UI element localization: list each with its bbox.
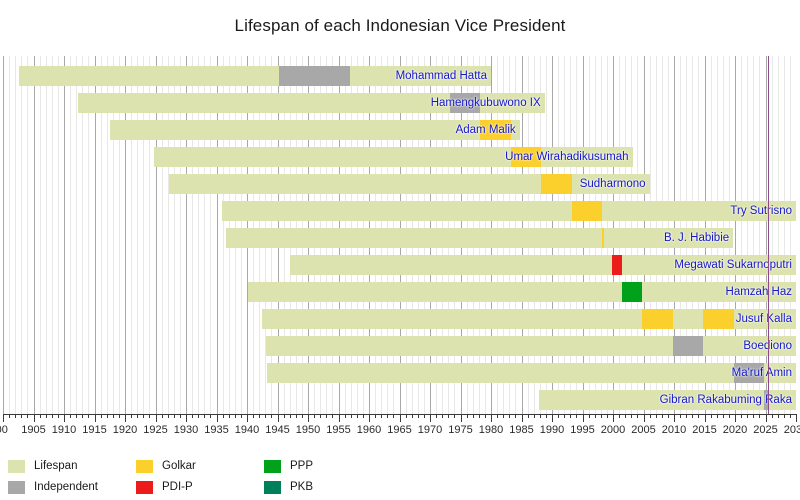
today-marker-line [3, 56, 796, 414]
axis-tick-label: 1990 [540, 424, 564, 436]
tick-minor [314, 414, 315, 418]
tick-minor [656, 414, 657, 418]
tick-minor [76, 414, 77, 418]
legend-label: PDI-P [162, 479, 193, 495]
tick-major [217, 414, 218, 422]
tick-minor [192, 414, 193, 418]
tick-major [735, 414, 736, 422]
tick-minor [332, 414, 333, 418]
tick-major [583, 414, 584, 422]
axis-tick-label: 2010 [662, 424, 686, 436]
chart-title: Lifespan of each Indonesian Vice Preside… [0, 16, 800, 36]
tick-minor [345, 414, 346, 418]
tick-minor [509, 414, 510, 418]
tick-major [491, 414, 492, 422]
tick-minor [320, 414, 321, 418]
tick-major [278, 414, 279, 422]
tick-minor [241, 414, 242, 418]
tick-minor [729, 414, 730, 418]
axis-tick-label: 2030 [784, 424, 800, 436]
tick-major [430, 414, 431, 422]
axis-tick-label: 2015 [692, 424, 716, 436]
tick-minor [607, 414, 608, 418]
tick-minor [723, 414, 724, 418]
tick-minor [424, 414, 425, 418]
tick-minor [58, 414, 59, 418]
chart-legend: LifespanIndependentGolkarPDI-PPPPPKB [0, 458, 800, 500]
axis-tick-label: 1975 [448, 424, 472, 436]
tick-major [644, 414, 645, 422]
tick-minor [387, 414, 388, 418]
tick-minor [662, 414, 663, 418]
tick-minor [271, 414, 272, 418]
axis-tick-label: 1915 [82, 424, 106, 436]
tick-minor [284, 414, 285, 418]
tick-minor [265, 414, 266, 418]
axis-tick-label: 1910 [52, 424, 76, 436]
legend-label: Independent [34, 479, 98, 495]
tick-minor [692, 414, 693, 418]
tick-minor [119, 414, 120, 418]
today-line [768, 56, 769, 414]
tick-minor [363, 414, 364, 418]
legend-label: PPP [290, 458, 313, 474]
tick-minor [46, 414, 47, 418]
tick-minor [70, 414, 71, 418]
tick-minor [564, 414, 565, 418]
legend-label: Golkar [162, 458, 196, 474]
tick-minor [436, 414, 437, 418]
tick-minor [619, 414, 620, 418]
tick-major [95, 414, 96, 422]
tick-major [339, 414, 340, 422]
tick-minor [772, 414, 773, 418]
tick-minor [650, 414, 651, 418]
tick-major [613, 414, 614, 422]
tick-minor [21, 414, 22, 418]
tick-major [705, 414, 706, 422]
tick-major [156, 414, 157, 422]
legend-label: Lifespan [34, 458, 77, 474]
tick-minor [528, 414, 529, 418]
tick-major [186, 414, 187, 422]
tick-minor [101, 414, 102, 418]
tick-minor [473, 414, 474, 418]
tick-minor [540, 414, 541, 418]
tick-minor [229, 414, 230, 418]
tick-minor [778, 414, 779, 418]
tick-minor [485, 414, 486, 418]
tick-minor [357, 414, 358, 418]
tick-minor [680, 414, 681, 418]
tick-major [64, 414, 65, 422]
tick-minor [558, 414, 559, 418]
tick-minor [711, 414, 712, 418]
tick-major [522, 414, 523, 422]
axis-tick-label: 1935 [204, 424, 228, 436]
tick-minor [747, 414, 748, 418]
axis-tick-label: 00 [0, 424, 8, 436]
tick-minor [753, 414, 754, 418]
tick-major [34, 414, 35, 422]
tick-minor [296, 414, 297, 418]
axis-tick-label: 1955 [326, 424, 350, 436]
tick-minor [174, 414, 175, 418]
x-axis-labels: 0019051910191519201925193019351940194519… [0, 424, 800, 442]
axis-tick-label: 1945 [265, 424, 289, 436]
tick-minor [759, 414, 760, 418]
tick-major [247, 414, 248, 422]
tick-minor [570, 414, 571, 418]
tick-minor [223, 414, 224, 418]
legend-swatch-independent [8, 481, 25, 494]
tick-minor [515, 414, 516, 418]
tick-minor [497, 414, 498, 418]
tick-major [308, 414, 309, 422]
legend-swatch-pkb [264, 481, 281, 494]
tick-minor [82, 414, 83, 418]
tick-minor [107, 414, 108, 418]
chart-page: Lifespan of each Indonesian Vice Preside… [0, 0, 800, 500]
tick-minor [113, 414, 114, 418]
plot-area: Mohammad HattaHamengkubuwono IXAdam Mali… [3, 56, 796, 414]
tick-minor [503, 414, 504, 418]
axis-tick-label: 1960 [357, 424, 381, 436]
axis-tick-label: 1970 [418, 424, 442, 436]
axis-tick-label: 1995 [570, 424, 594, 436]
tick-minor [88, 414, 89, 418]
tick-minor [698, 414, 699, 418]
tick-minor [180, 414, 181, 418]
tick-minor [448, 414, 449, 418]
tick-minor [784, 414, 785, 418]
tick-minor [131, 414, 132, 418]
axis-tick-label: 1980 [479, 424, 503, 436]
tick-minor [717, 414, 718, 418]
axis-tick-label: 1925 [143, 424, 167, 436]
tick-minor [27, 414, 28, 418]
tick-minor [576, 414, 577, 418]
tick-minor [326, 414, 327, 418]
axis-tick-label: 1950 [296, 424, 320, 436]
tick-minor [259, 414, 260, 418]
tick-minor [668, 414, 669, 418]
tick-minor [149, 414, 150, 418]
tick-minor [204, 414, 205, 418]
axis-tick-label: 2000 [601, 424, 625, 436]
tick-major [461, 414, 462, 422]
tick-minor [162, 414, 163, 418]
axis-tick-label: 1920 [113, 424, 137, 436]
tick-minor [637, 414, 638, 418]
tick-minor [686, 414, 687, 418]
tick-minor [198, 414, 199, 418]
tick-minor [467, 414, 468, 418]
tick-minor [601, 414, 602, 418]
tick-minor [302, 414, 303, 418]
tick-minor [210, 414, 211, 418]
tick-major [552, 414, 553, 422]
legend-swatch-ppp [264, 460, 281, 473]
tick-minor [381, 414, 382, 418]
axis-tick-label: 2025 [753, 424, 777, 436]
tick-minor [168, 414, 169, 418]
tick-minor [40, 414, 41, 418]
tick-minor [790, 414, 791, 418]
axis-tick-label: 1965 [387, 424, 411, 436]
tick-minor [534, 414, 535, 418]
tick-major [3, 414, 4, 422]
legend-label: PKB [290, 479, 313, 495]
tick-minor [741, 414, 742, 418]
tick-minor [454, 414, 455, 418]
axis-tick-label: 1905 [21, 424, 45, 436]
tick-minor [52, 414, 53, 418]
tick-minor [393, 414, 394, 418]
tick-minor [479, 414, 480, 418]
tick-minor [290, 414, 291, 418]
tick-major [674, 414, 675, 422]
axis-tick-label: 2005 [631, 424, 655, 436]
tick-minor [253, 414, 254, 418]
tick-minor [15, 414, 16, 418]
tick-minor [137, 414, 138, 418]
axis-tick-label: 1940 [235, 424, 259, 436]
tick-minor [595, 414, 596, 418]
tick-minor [631, 414, 632, 418]
tick-minor [9, 414, 10, 418]
tick-minor [143, 414, 144, 418]
axis-tick-label: 2020 [723, 424, 747, 436]
tick-minor [442, 414, 443, 418]
axis-tick-label: 1985 [509, 424, 533, 436]
tick-minor [412, 414, 413, 418]
tick-minor [418, 414, 419, 418]
legend-swatch-pdip [136, 481, 153, 494]
tick-minor [351, 414, 352, 418]
axis-tick-label: 1930 [174, 424, 198, 436]
tick-major [766, 414, 767, 422]
legend-swatch-golkar [136, 460, 153, 473]
tick-minor [546, 414, 547, 418]
tick-minor [589, 414, 590, 418]
tick-minor [625, 414, 626, 418]
tick-minor [375, 414, 376, 418]
tick-major [400, 414, 401, 422]
tick-minor [235, 414, 236, 418]
tick-major [796, 414, 797, 422]
tick-major [369, 414, 370, 422]
tick-minor [406, 414, 407, 418]
legend-swatch-lifespan [8, 460, 25, 473]
tick-major [125, 414, 126, 422]
